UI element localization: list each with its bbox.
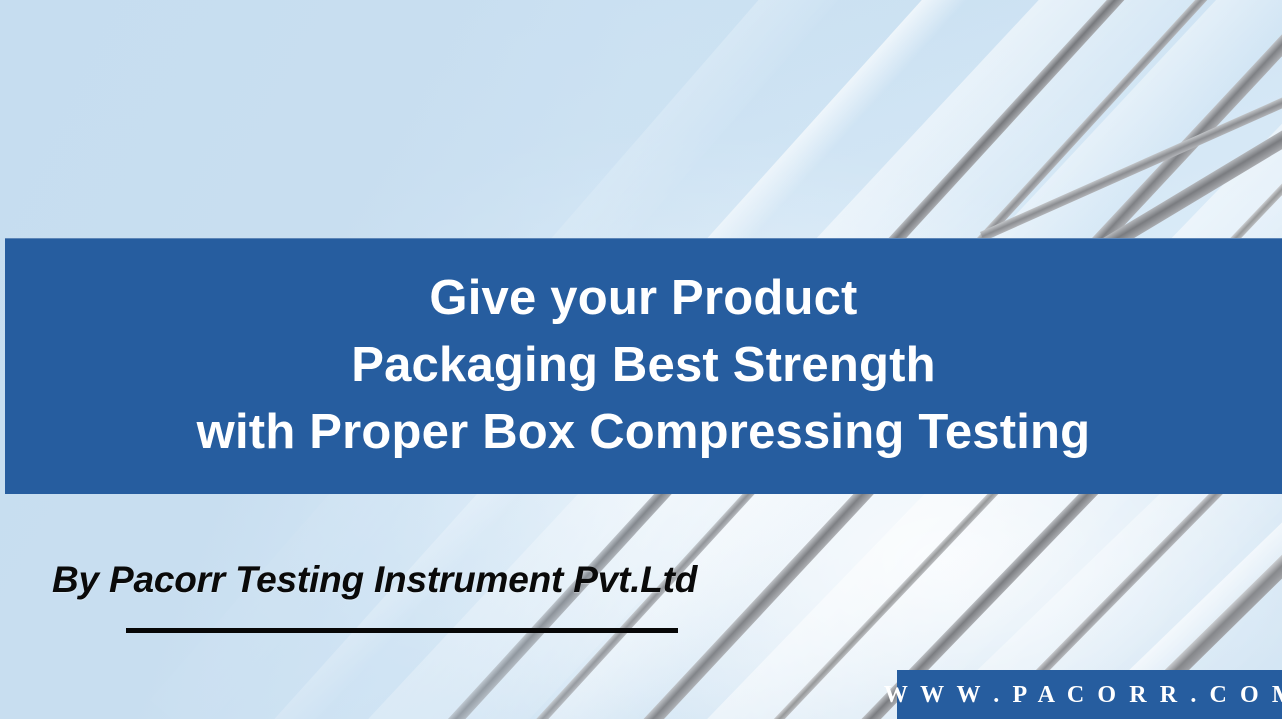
title-line-2: Packaging Best Strength [5,332,1282,399]
title-line-3: with Proper Box Compressing Testing [5,399,1282,466]
byline-underline [126,628,678,633]
website-footer-bar[interactable]: W W W . P A C O R R . C O M [897,670,1282,719]
title-banner: Give your Product Packaging Best Strengt… [5,238,1282,494]
byline-text: By Pacorr Testing Instrument Pvt.Ltd [52,558,812,602]
presentation-slide: Give your Product Packaging Best Strengt… [0,0,1282,719]
page-title: Give your Product Packaging Best Strengt… [5,265,1282,468]
facade-crossbeam [980,37,1282,241]
title-line-1: Give your Product [5,265,1282,332]
website-url[interactable]: W W W . P A C O R R . C O M [881,683,1282,707]
byline-block: By Pacorr Testing Instrument Pvt.Ltd [52,558,812,602]
